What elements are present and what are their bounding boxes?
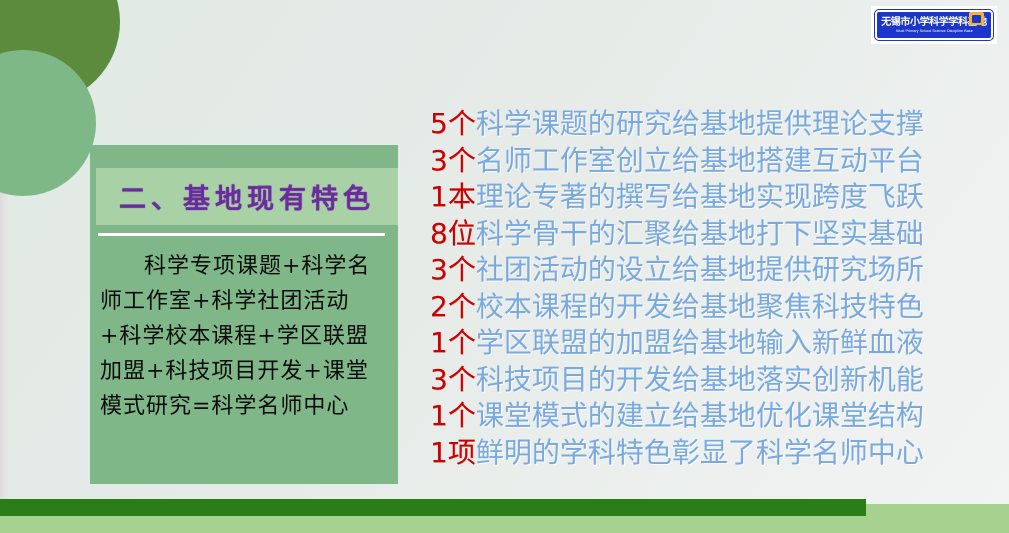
statement-text: 校本课程的开发给基地聚焦科技特色 [476,290,924,323]
statement-text: 课堂模式的建立给基地优化课堂结构 [476,399,924,432]
statement-list: 5个科学课题的研究给基地提供理论支撑 3个名师工作室创立给基地搭建互动平台 1本… [430,106,970,471]
statement-count: 2个 [430,290,476,323]
statement-text: 学区联盟的加盟给基地输入新鲜血液 [476,326,924,359]
feature-panel: 二、基地现有特色 科学专项课题+科学名师工作室+科学社团活动+科学校本课程+学区… [90,145,398,484]
statement-text: 理论专著的撰写给基地实现跨度飞跃 [476,180,924,213]
wuxi-science-base-logo: 无锡市小学科学学科基地 Wuxi Primary School Science … [875,10,993,40]
logo-container: 无锡市小学科学学科基地 Wuxi Primary School Science … [871,6,997,44]
list-item: 2个校本课程的开发给基地聚焦科技特色 [430,289,970,326]
statement-count: 3个 [430,144,476,177]
statement-text: 名师工作室创立给基地搭建互动平台 [476,144,924,177]
list-item: 3个社团活动的设立给基地提供研究场所 [430,252,970,289]
panel-body-text: 科学专项课题+科学名师工作室+科学社团活动+科学校本课程+学区联盟加盟+科技项目… [100,249,388,424]
list-item: 5个科学课题的研究给基地提供理论支撑 [430,106,970,143]
statement-text: 科技项目的开发给基地落实创新机能 [476,363,924,396]
torch-icon [969,12,984,25]
footer-bar-dark [0,499,866,516]
statement-count: 1个 [430,399,476,432]
list-item: 3个科技项目的开发给基地落实创新机能 [430,362,970,399]
list-item: 1个学区联盟的加盟给基地输入新鲜血液 [430,325,970,362]
list-item: 3个名师工作室创立给基地搭建互动平台 [430,143,970,180]
statement-text: 社团活动的设立给基地提供研究场所 [476,253,924,286]
statement-count: 3个 [430,253,476,286]
panel-title: 二、基地现有特色 [119,177,375,216]
statement-count: 1项 [430,436,476,469]
statement-text: 科学骨干的汇聚给基地打下坚实基础 [476,217,924,250]
logo-english-text: Wuxi Primary School Science Discipline B… [896,28,973,34]
list-item: 1项鲜明的学科特色彰显了科学名师中心 [430,435,970,472]
statement-count: 5个 [430,107,476,140]
statement-count: 1个 [430,326,476,359]
list-item: 1本理论专著的撰写给基地实现跨度飞跃 [430,179,970,216]
statement-count: 8位 [430,217,476,250]
statement-count: 3个 [430,363,476,396]
statement-count: 1本 [430,180,476,213]
panel-title-band: 二、基地现有特色 [96,168,398,225]
statement-text: 科学课题的研究给基地提供理论支撑 [476,107,924,140]
panel-divider [98,233,385,236]
list-item: 8位科学骨干的汇聚给基地打下坚实基础 [430,216,970,253]
statement-text: 鲜明的学科特色彰显了科学名师中心 [476,436,924,469]
list-item: 1个课堂模式的建立给基地优化课堂结构 [430,398,970,435]
